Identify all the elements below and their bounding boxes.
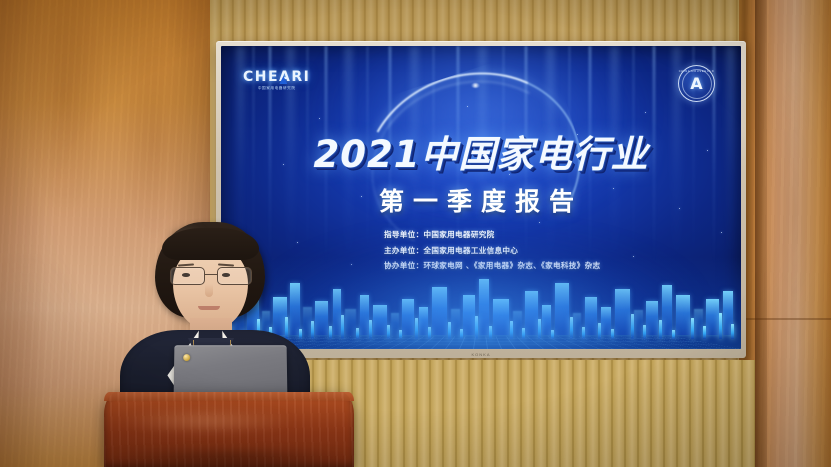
wall-panel-seam [739, 318, 831, 320]
tv-brand-badge: KONKA [471, 352, 490, 357]
laptop-logo-icon [183, 354, 190, 361]
emblem-letter: A [690, 76, 702, 92]
emblem-arc-text: CHINA HOUSEHOLD [679, 70, 715, 73]
floor-shadow [96, 449, 366, 467]
cheari-logo-subtext: 中国家用电器研究院 [243, 86, 310, 91]
hair-fringe [162, 228, 259, 260]
presentation-scene: CHEARI 中国家用电器研究院 CHINA HOUSEHOLD A 2021中… [0, 0, 831, 467]
glasses-bridge [204, 274, 218, 275]
cheari-logo: CHEARI 中国家用电器研究院 [243, 69, 310, 91]
slide-title: 2021中国家电行业 [221, 124, 741, 178]
cheari-logo-text: CHEARI [243, 69, 310, 85]
credit-line-guidance: 指导单位：中国家用电器研究院 [384, 231, 714, 239]
comet-head-glow [471, 83, 480, 88]
eyeglasses [170, 267, 252, 284]
mouth [198, 306, 220, 310]
circular-a-emblem: CHINA HOUSEHOLD A [678, 65, 715, 102]
nose [205, 284, 213, 297]
lens-right [217, 267, 252, 285]
lens-left [170, 267, 205, 285]
slide-subtitle: 第一季度报告 [221, 182, 741, 218]
wall-edge-shadow [755, 0, 767, 467]
